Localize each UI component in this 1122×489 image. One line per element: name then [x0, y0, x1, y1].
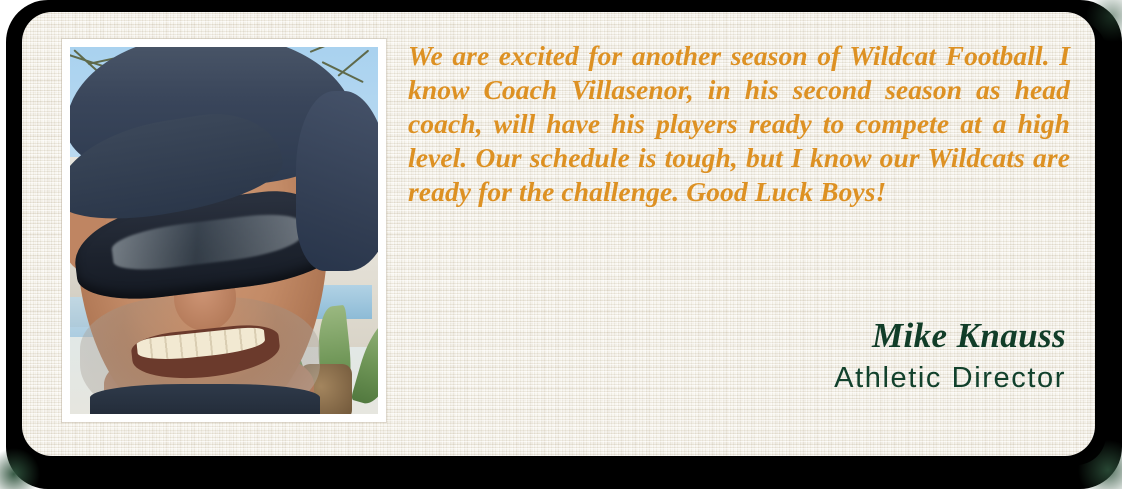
- signature-name: Mike Knauss: [400, 316, 1066, 356]
- photo-lens-reflection: [110, 210, 304, 275]
- signature-title: Athletic Director: [400, 360, 1066, 396]
- photo-shirt: [90, 384, 320, 414]
- quote-text: We are excited for another season of Wil…: [408, 39, 1070, 209]
- photo-frame: [62, 39, 386, 422]
- message-content: We are excited for another season of Wil…: [408, 39, 1074, 429]
- message-card: We are excited for another season of Wil…: [22, 12, 1095, 456]
- director-photo: [70, 47, 378, 414]
- photo-visor-side: [296, 91, 378, 271]
- signature-block: Mike Knauss Athletic Director: [400, 316, 1066, 396]
